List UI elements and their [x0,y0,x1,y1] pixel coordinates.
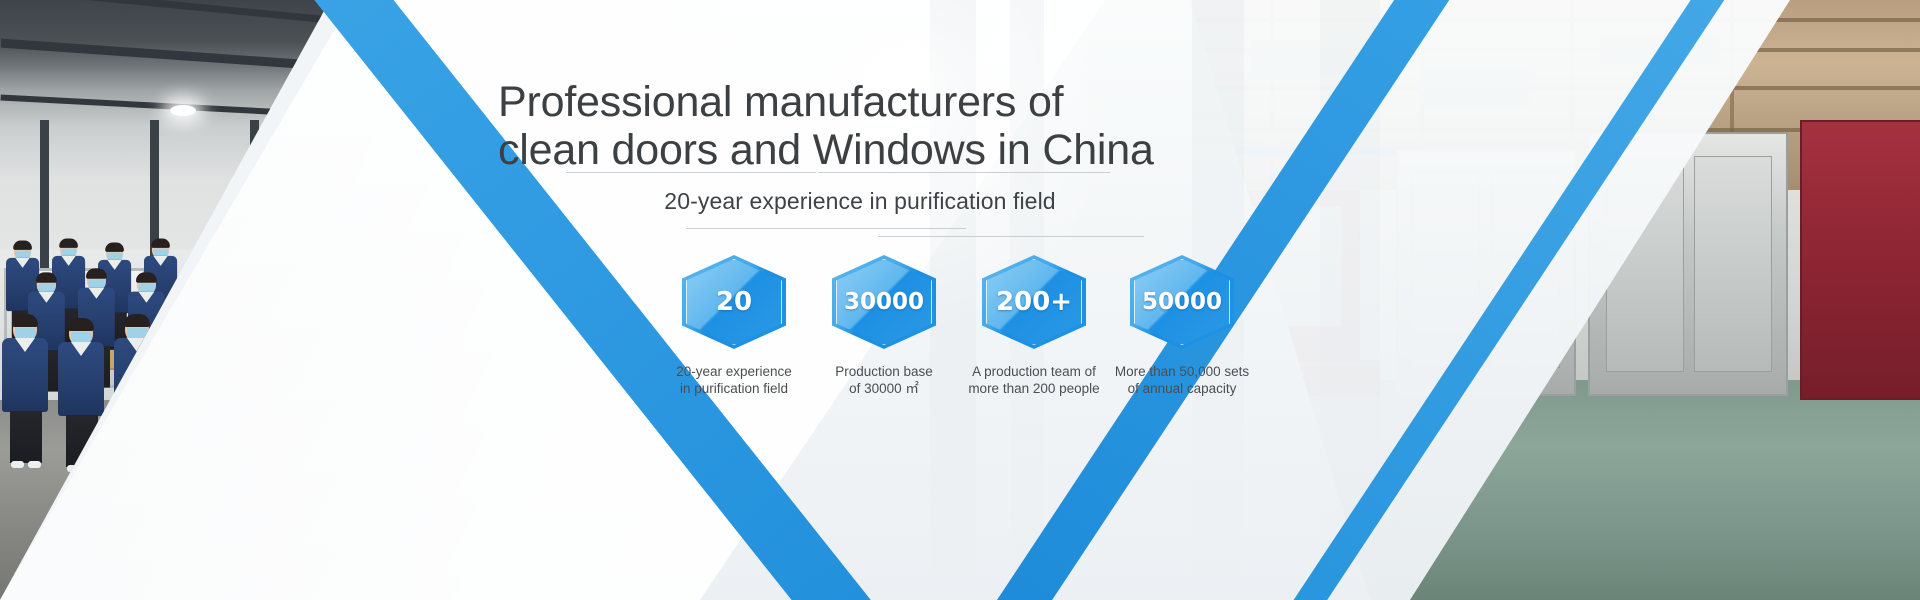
hexagon-badge-icon: 20 [682,255,786,349]
headline-divider-right [818,172,1110,173]
hero-banner: Professional manufacturers of clean door… [0,0,1920,600]
stats-row: 20 20-year experience in purification fi… [660,255,1270,425]
stat-item-team-size: 200+ A production team of more than 200 … [960,255,1108,397]
stat-caption: More than 50,000 sets of annual capacity [1108,363,1256,397]
banner-headline: Professional manufacturers of clean door… [498,78,1258,174]
hexagon-badge-icon: 50000 [1130,255,1234,349]
subheadline-divider-left [686,228,966,229]
hexagon-badge-icon: 30000 [832,255,936,349]
stat-value: 20 [682,255,786,349]
stat-value: 30000 [832,255,936,349]
stat-value: 50000 [1130,255,1234,349]
hexagon-badge-icon: 200+ [982,255,1086,349]
stat-value: 200+ [982,255,1086,349]
stat-caption: Production base of 30000 ㎡ [810,363,958,397]
stat-item-production-base: 30000 Production base of 30000 ㎡ [810,255,958,397]
subheadline-divider-right [878,236,1144,237]
red-machine [1800,120,1920,400]
headline-divider-left [566,172,816,173]
banner-subheadline: 20-year experience in purification field [560,188,1160,215]
stat-caption: A production team of more than 200 peopl… [960,363,1108,397]
ceiling-light [170,105,196,116]
stat-caption: 20-year experience in purification field [660,363,808,397]
stat-item-experience: 20 20-year experience in purification fi… [660,255,808,397]
machine-door [1694,156,1772,372]
stat-item-annual-capacity: 50000 More than 50,000 sets of annual ca… [1108,255,1256,397]
